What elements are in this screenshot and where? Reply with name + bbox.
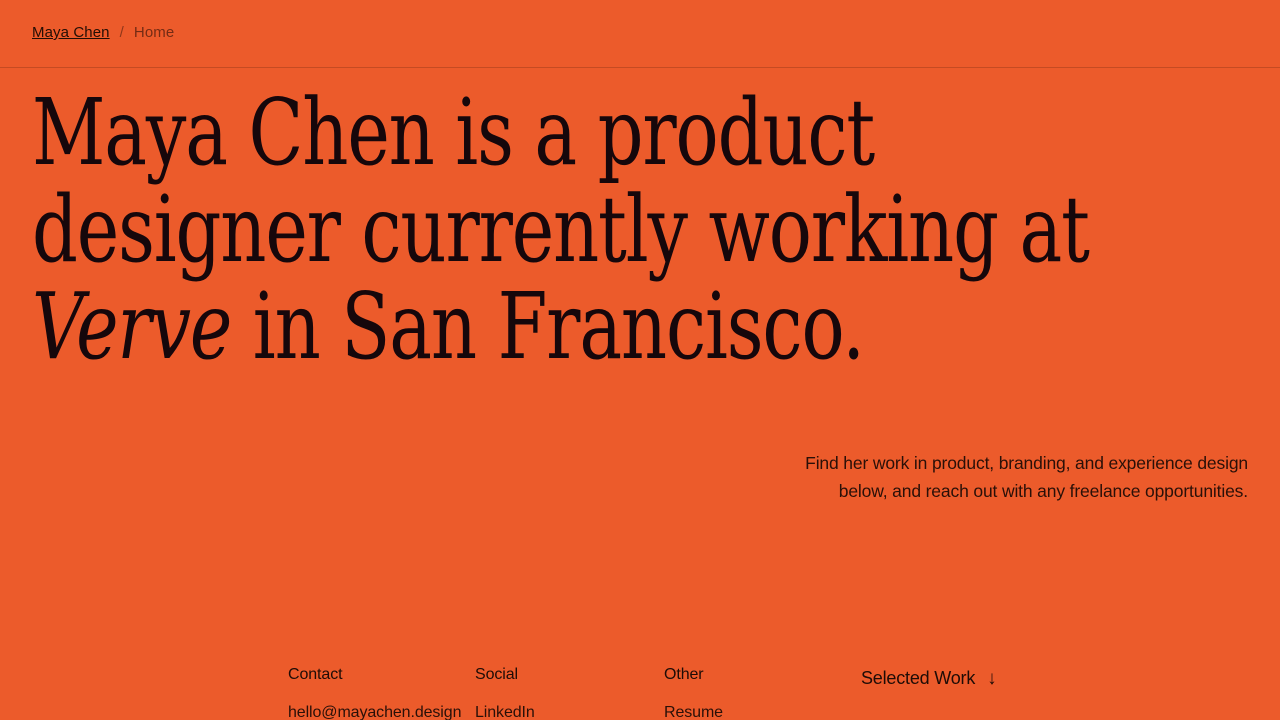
footer-column-social: Social LinkedIn <box>475 666 535 720</box>
breadcrumb-separator: / <box>120 24 124 41</box>
headline-emphasis-company: Verve <box>32 273 231 380</box>
footer-heading-contact: Contact <box>288 666 461 684</box>
headline-line-2: designer currently working at <box>32 181 812 278</box>
selected-work-label: Selected Work <box>861 668 975 689</box>
headline-line-3: Verve in San Francisco. <box>32 278 812 375</box>
breadcrumb-item-current: Home <box>134 24 174 41</box>
headline-line-3-rest: in San Francisco. <box>231 273 864 380</box>
intro-line-2: below, and reach out with any freelance … <box>688 477 1248 505</box>
footer-heading-social: Social <box>475 666 535 684</box>
footer-link-email[interactable]: hello@mayachen.design <box>288 704 461 720</box>
headline-line-1: Maya Chen is a product <box>32 84 812 181</box>
page-title: Maya Chen is a product designer currentl… <box>32 84 812 375</box>
hero-section: Maya Chen is a product designer currentl… <box>32 84 1032 375</box>
footer-link-resume[interactable]: Resume <box>664 704 723 720</box>
breadcrumb-item-root[interactable]: Maya Chen <box>32 24 110 41</box>
footer-link-linkedin[interactable]: LinkedIn <box>475 704 535 720</box>
selected-work-link[interactable]: Selected Work ↓ <box>861 668 996 689</box>
footer-column-other: Other Resume <box>664 666 723 720</box>
top-bar: Maya Chen / Home <box>0 0 1280 68</box>
breadcrumb: Maya Chen / Home <box>32 24 174 41</box>
footer-column-contact: Contact hello@mayachen.design <box>288 666 461 720</box>
intro-line-1: Find her work in product, branding, and … <box>688 449 1248 477</box>
footer: Contact hello@mayachen.design Social Lin… <box>0 660 1280 720</box>
footer-heading-other: Other <box>664 666 723 684</box>
intro-paragraph: Find her work in product, branding, and … <box>688 449 1248 505</box>
arrow-down-icon: ↓ <box>987 669 996 688</box>
